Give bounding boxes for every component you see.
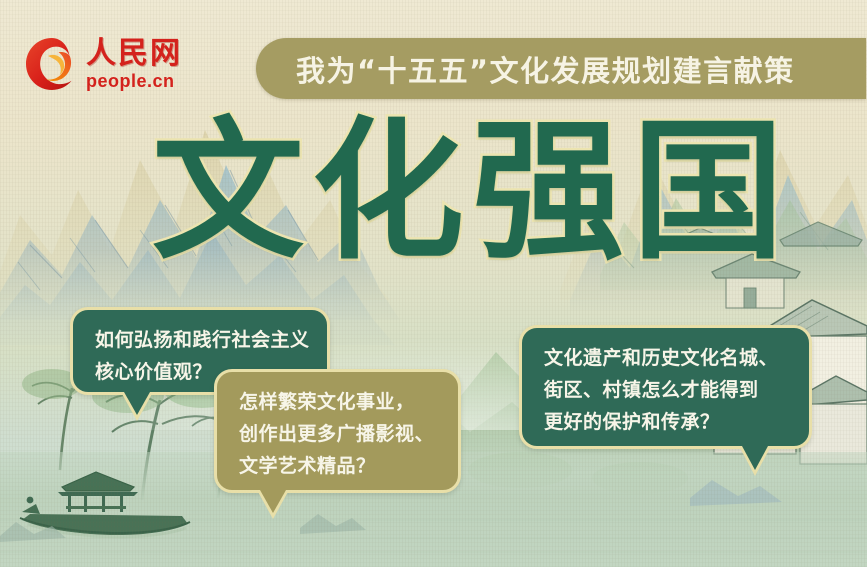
bubble3-tail-fill <box>742 446 768 470</box>
bubble1-tail-fill <box>124 392 150 415</box>
header-banner: 我为“十五五”文化发展规划建言献策 <box>256 38 866 99</box>
logo-english-name: people.cn <box>86 72 182 90</box>
poster-root: 人民网 people.cn 我为“十五五”文化发展规划建言献策 文化强国 如何弘… <box>0 0 867 567</box>
bubble3-line3: 更好的保护和传承？ <box>544 406 789 438</box>
logo-chinese-name: 人民网 <box>86 39 182 69</box>
bubble2-line3: 文学艺术精品？ <box>239 450 438 482</box>
page-title: 文化强国 <box>152 112 792 272</box>
bubble3-line2: 街区、村镇怎么才能得到 <box>544 374 789 406</box>
header-banner-text: 我为“十五五”文化发展规划建言献策 <box>296 48 795 90</box>
speech-bubble-heritage[interactable]: 文化遗产和历史文化名城、 街区、村镇怎么才能得到 更好的保护和传承？ <box>519 325 812 449</box>
bubble2-line2: 创作出更多广播影视、 <box>239 418 438 450</box>
people-cn-swirl-icon <box>24 36 80 92</box>
bubble1-line1: 如何弘扬和践行社会主义 <box>95 324 307 356</box>
bubble3-line1: 文化遗产和历史文化名城、 <box>544 342 789 374</box>
people-cn-logo[interactable]: 人民网 people.cn <box>24 33 239 95</box>
speech-bubble-cultural-works[interactable]: 怎样繁荣文化事业， 创作出更多广播影视、 文学艺术精品？ <box>214 369 461 493</box>
bubble2-tail-fill <box>260 490 286 513</box>
logo-text-block: 人民网 people.cn <box>86 39 182 90</box>
bubble2-line1: 怎样繁荣文化事业， <box>239 386 438 418</box>
